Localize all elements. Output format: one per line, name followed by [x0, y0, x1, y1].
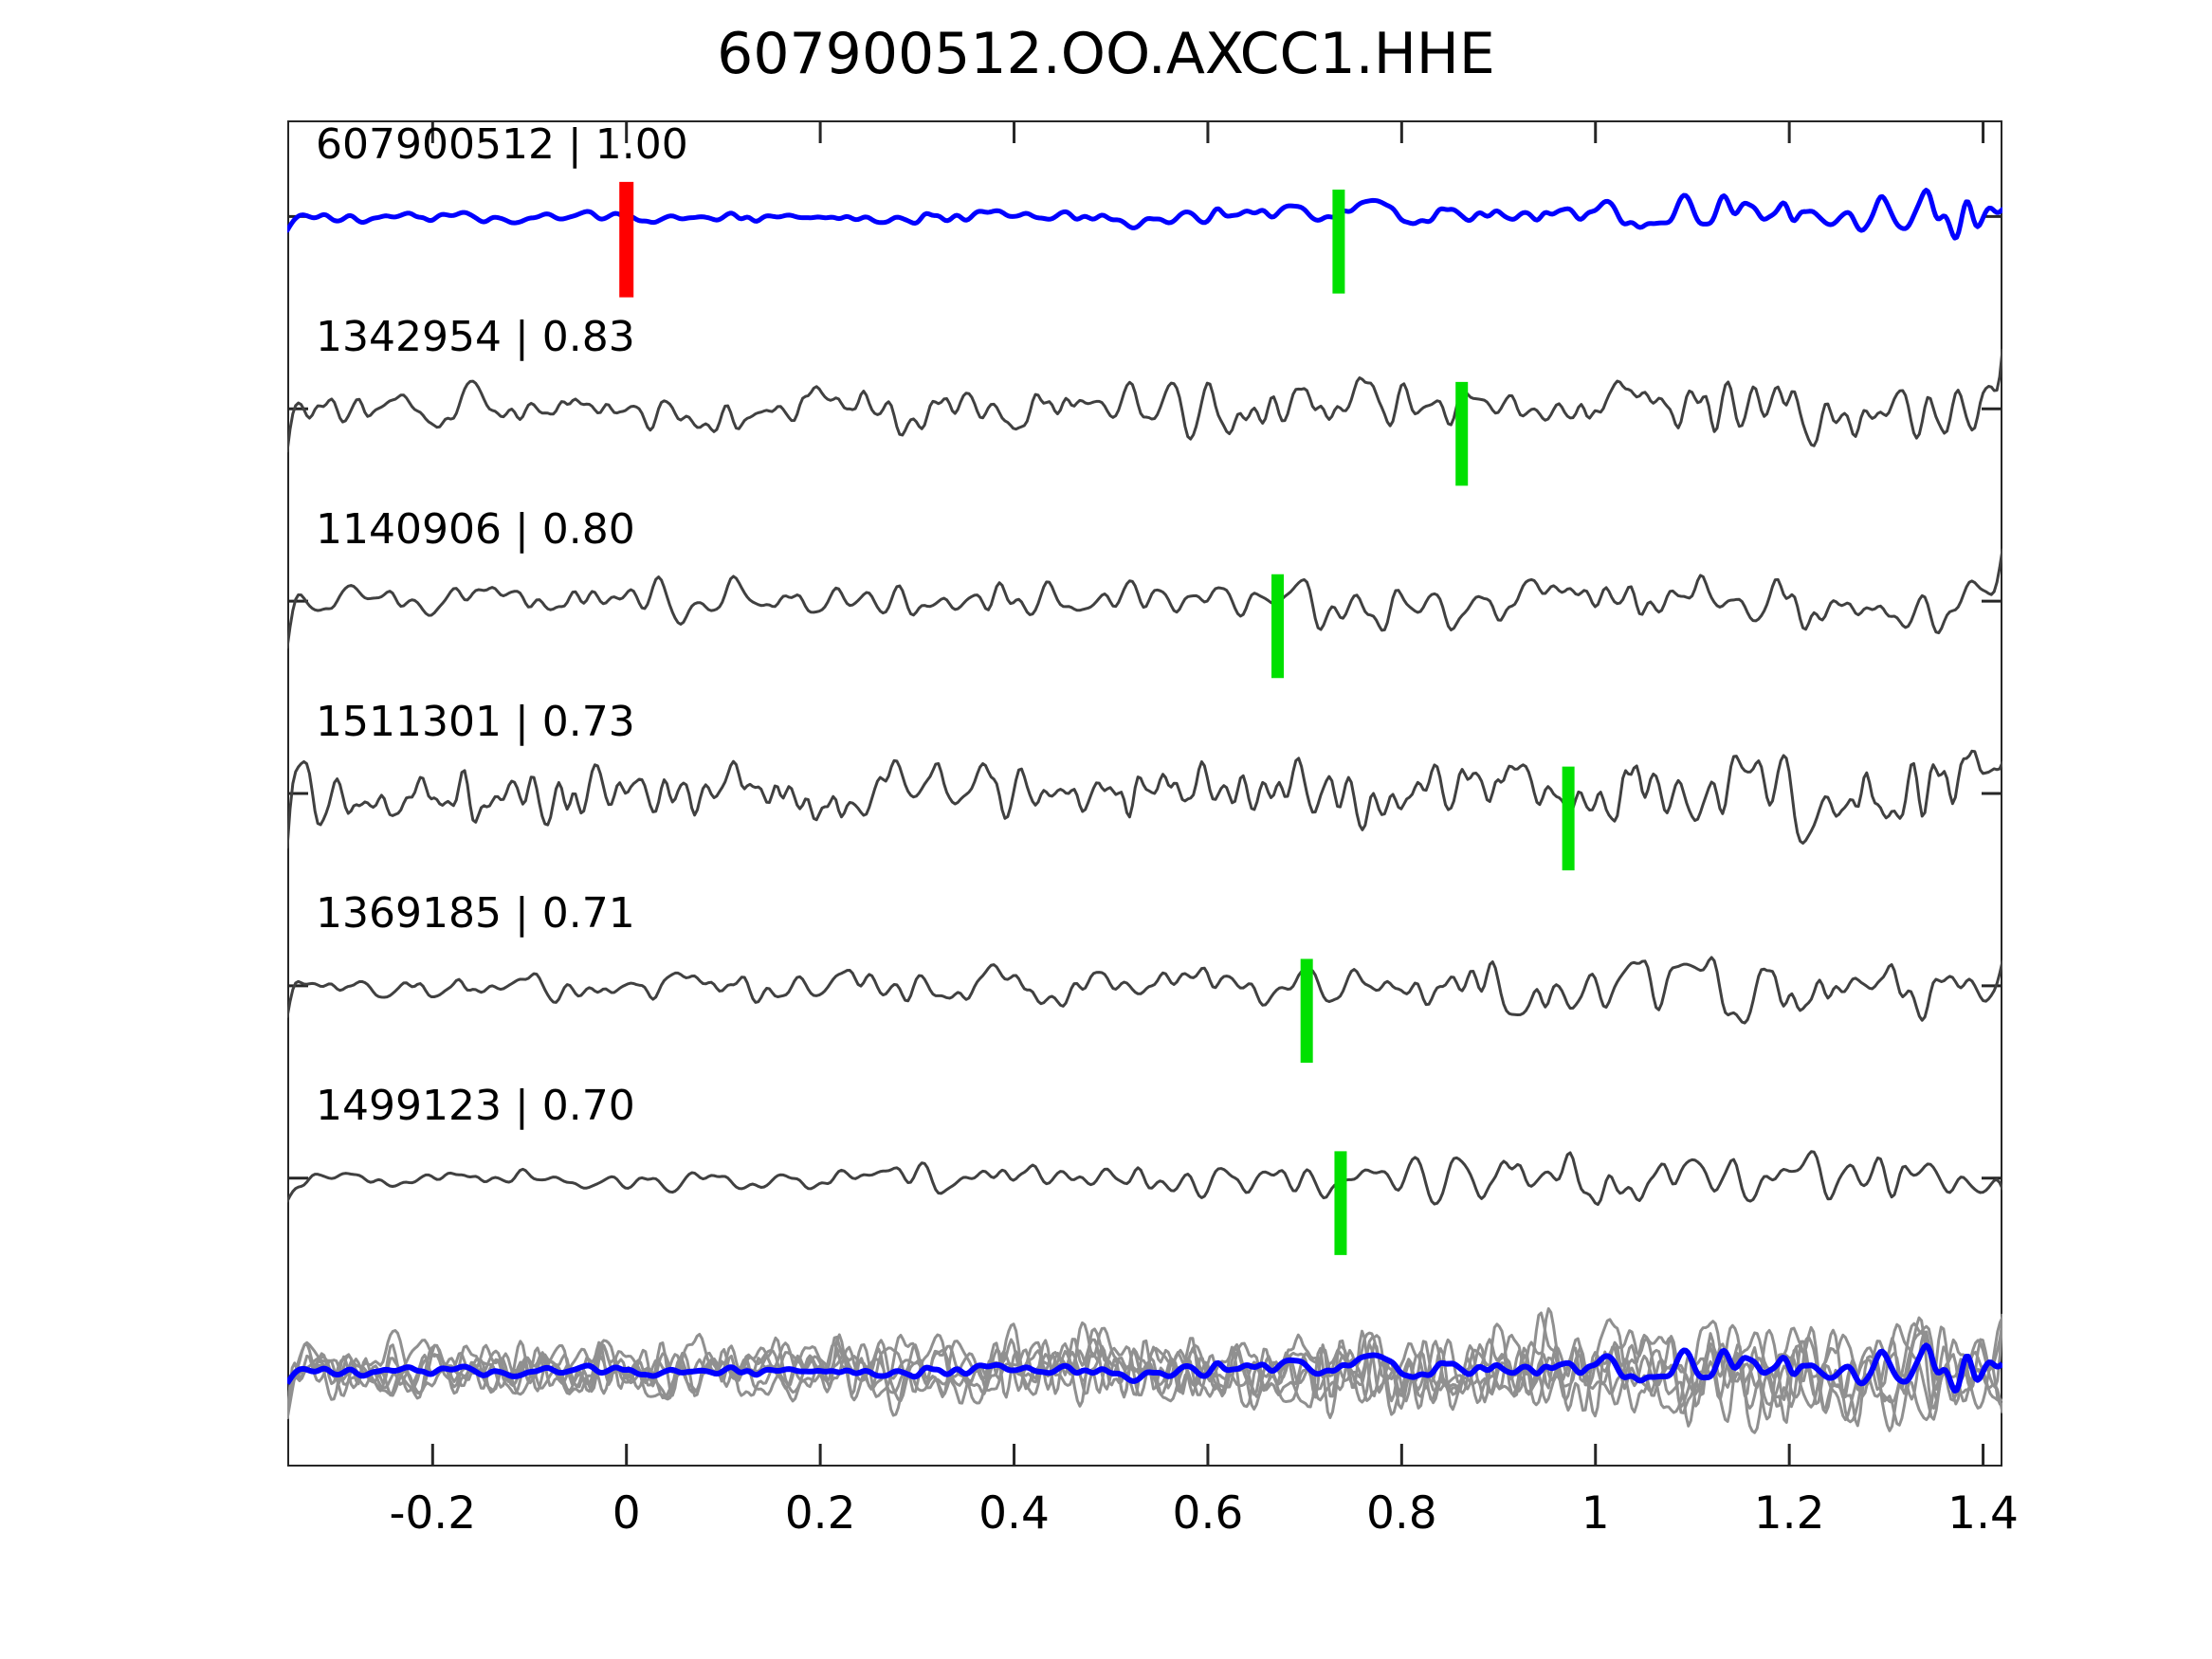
x-tick-label: 1 — [1581, 1487, 1610, 1540]
waveform-trace — [287, 350, 2002, 451]
trace-label: 1499123 | 0.70 — [316, 1082, 635, 1130]
page-title: 607900512.OO.AXCC1.HHE — [0, 21, 2212, 87]
x-tick-label: 0.2 — [785, 1487, 856, 1540]
x-tick-label: -0.2 — [389, 1487, 476, 1540]
trace-label: 1342954 | 0.83 — [316, 313, 635, 361]
plot-area: 607900512 | 1.001342954 | 0.831140906 | … — [287, 120, 2002, 1467]
waveform-trace — [287, 1152, 2002, 1205]
waveform-trace — [287, 550, 2002, 647]
trace-label: 1140906 | 0.80 — [316, 505, 635, 554]
x-tick-label: 0.6 — [1173, 1487, 1244, 1540]
trace-label: 607900512 | 1.00 — [316, 120, 688, 169]
x-tick-label: 0 — [612, 1487, 641, 1540]
trace-label: 1369185 | 0.71 — [316, 889, 635, 938]
x-tick-label: 0.8 — [1366, 1487, 1437, 1540]
waveform-trace — [287, 957, 2002, 1023]
x-tick-label: 1.2 — [1754, 1487, 1825, 1540]
x-tick-label: 1.4 — [1947, 1487, 2019, 1540]
waveform-trace — [287, 191, 2002, 239]
seismic-correlation-figure: 607900512.OO.AXCC1.HHE 607900512 | 1.001… — [0, 0, 2212, 1659]
waveform-trace — [287, 751, 2002, 848]
trace-label: 1511301 | 0.73 — [316, 698, 635, 746]
x-tick-label: 0.4 — [978, 1487, 1050, 1540]
